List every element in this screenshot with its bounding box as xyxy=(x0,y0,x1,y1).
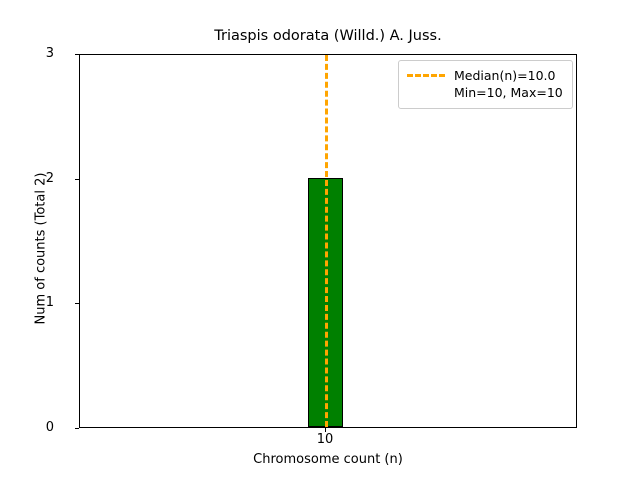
x-tick-label-10: 10 xyxy=(295,433,355,447)
legend-dashed-line-icon xyxy=(407,74,445,77)
x-axis-label: Chromosome count (n) xyxy=(79,452,577,467)
legend-label-median: Median(n)=10.0 xyxy=(454,68,555,83)
median-line xyxy=(325,55,328,427)
chart-figure: Triaspis odorata (Willd.) A. Juss. 0 1 2… xyxy=(0,0,640,480)
chart-title: Triaspis odorata (Willd.) A. Juss. xyxy=(79,28,577,45)
plot-inner xyxy=(80,55,576,427)
chart-legend: Median(n)=10.0 Min=10, Max=10 xyxy=(398,60,573,109)
legend-entry-minmax: Min=10, Max=10 xyxy=(407,84,564,101)
y-tick-label-3: 3 xyxy=(14,47,54,61)
y-axis-label: Num of counts (Total 2) xyxy=(34,62,49,436)
plot-area xyxy=(79,54,577,428)
y-tick-mark-0 xyxy=(75,428,79,429)
legend-entry-median: Median(n)=10.0 xyxy=(407,67,564,84)
legend-label-minmax: Min=10, Max=10 xyxy=(454,85,563,100)
